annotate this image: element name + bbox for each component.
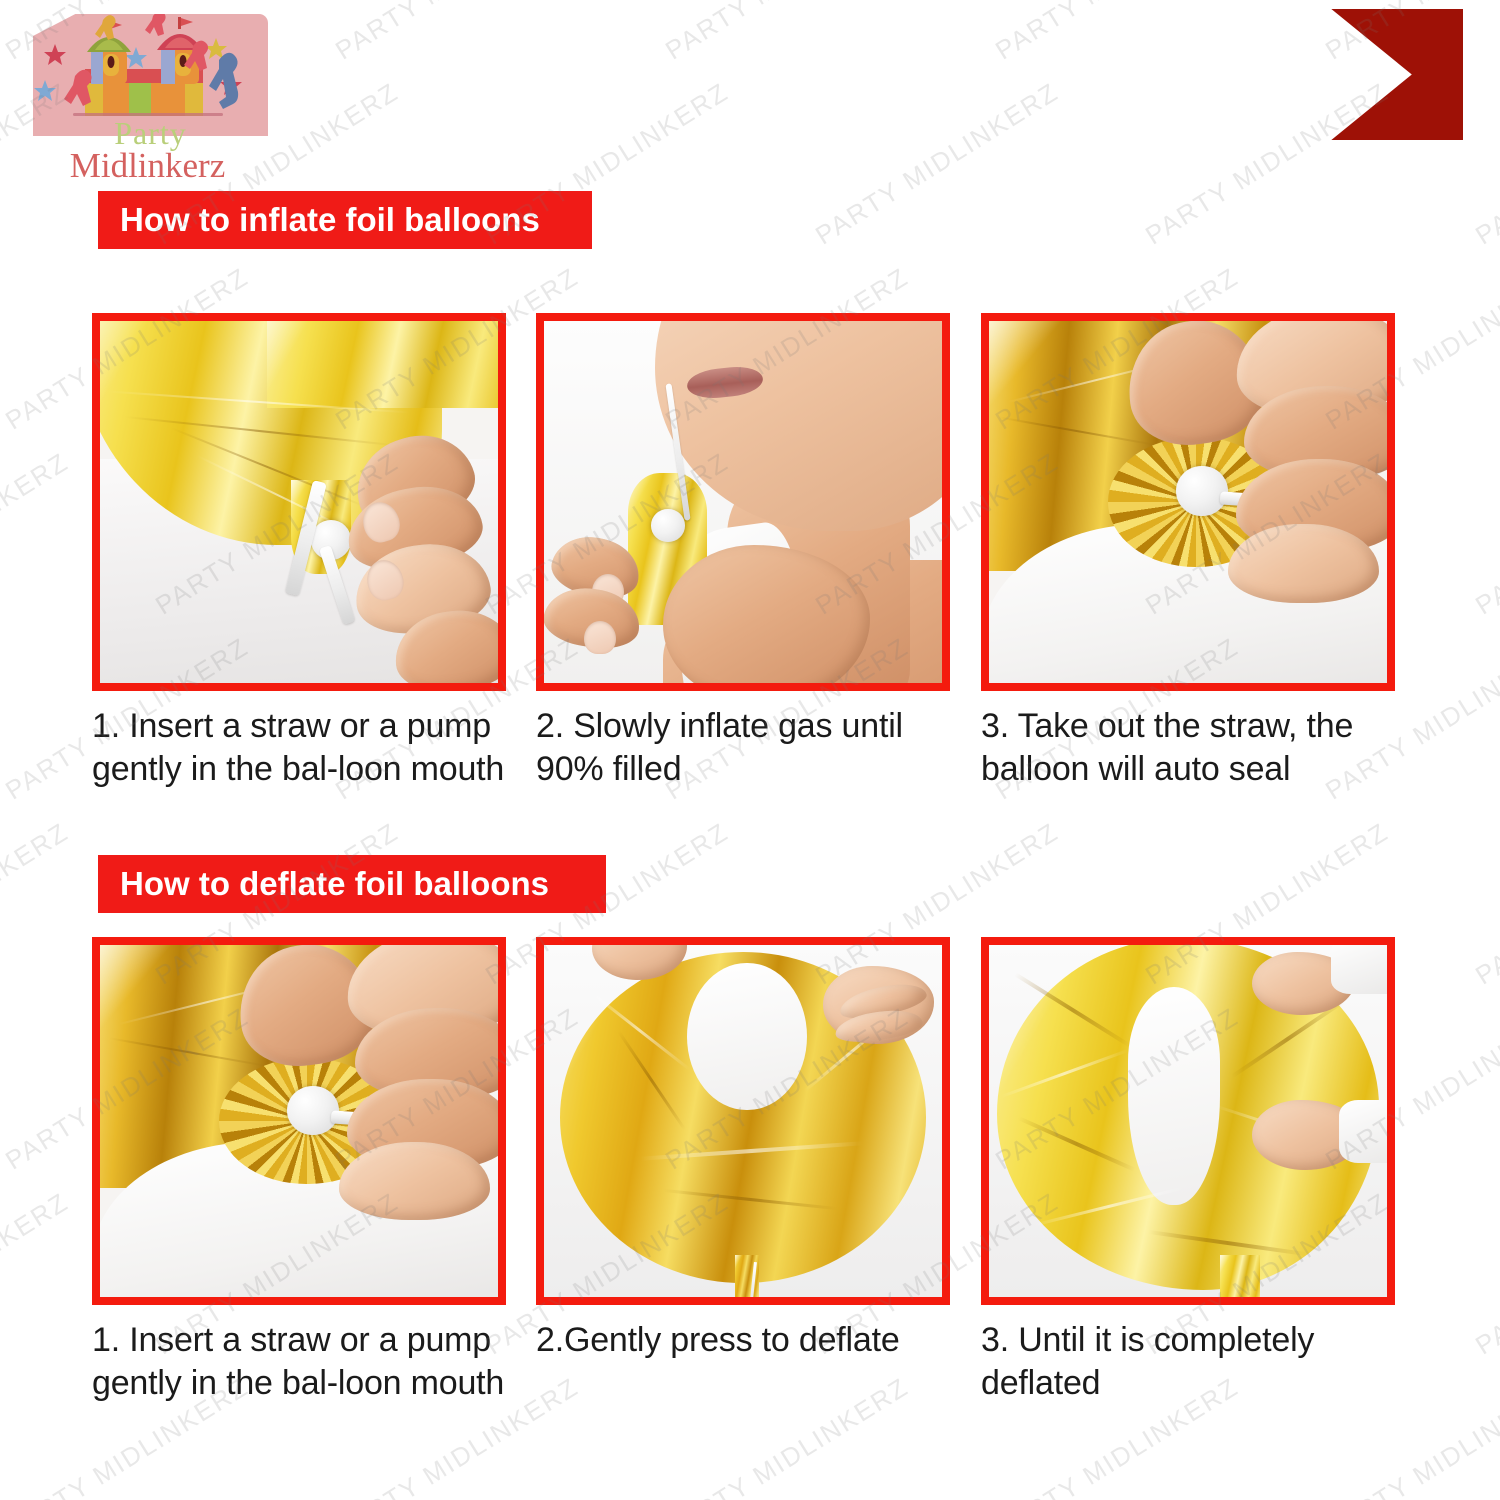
step-card-deflate-1: 1. Insert a straw or a pump gently in th…	[92, 937, 512, 1405]
remove-straw-auto-seal-photo	[989, 321, 1387, 683]
step-caption: 1. Insert a straw or a pump gently in th…	[92, 705, 512, 791]
photo-frame	[536, 937, 950, 1305]
step-caption: 3. Until it is completely deflated	[981, 1319, 1401, 1405]
step-caption: 2.Gently press to deflate	[536, 1319, 956, 1362]
watermark-text: PARTY MIDLINKERZ	[1470, 76, 1500, 251]
insert-straw-into-balloon-valve-photo	[100, 321, 498, 683]
foil-balloon-upper	[267, 321, 498, 408]
section-label-deflate: How to deflate foil balloons	[98, 855, 606, 913]
fully-deflated-gold-zero-balloon-photo	[989, 945, 1387, 1297]
press-gold-zero-balloon-photo	[544, 945, 942, 1297]
step-caption: 2. Slowly inflate gas until 90% filled	[536, 705, 956, 791]
brand-word-party: Party	[33, 118, 268, 149]
balloon-valve	[1176, 466, 1228, 517]
balloon-inner-hole	[1128, 987, 1220, 1205]
watermark-text: PARTY MIDLINKERZ	[0, 816, 74, 991]
watermark-text: PARTY MIDLINKERZ	[1470, 816, 1500, 991]
balloon-inner-hole	[687, 963, 806, 1111]
watermark-text: PARTY MIDLINKERZ	[660, 0, 914, 66]
step-card-inflate-1: 1. Insert a straw or a pump gently in th…	[92, 313, 512, 791]
photo-frame	[92, 937, 506, 1305]
photo-frame	[536, 313, 950, 691]
insert-straw-to-deflate-photo	[100, 945, 498, 1297]
step-caption: 3. Take out the straw, the balloon will …	[981, 705, 1401, 791]
watermark-text: PARTY MIDLINKERZ	[1470, 1186, 1500, 1361]
photo-frame	[981, 313, 1395, 691]
step-card-inflate-3: 3. Take out the straw, the balloon will …	[981, 313, 1401, 791]
watermark-text: PARTY MIDLINKERZ	[660, 1371, 914, 1500]
person-blowing-into-straw-photo	[544, 321, 942, 683]
balloon-valve	[651, 509, 685, 542]
brand-logo: Party Midlinkerz	[33, 14, 268, 190]
step-card-inflate-2: 2. Slowly inflate gas until 90% filled	[536, 313, 956, 791]
fingernail	[584, 621, 616, 654]
step-caption: 1. Insert a straw or a pump gently in th…	[92, 1319, 512, 1405]
photo-frame	[981, 937, 1395, 1305]
white-sleeve-upper	[1331, 945, 1387, 994]
watermark-text: PARTY MIDLINKERZ	[0, 1186, 74, 1361]
watermark-text: PARTY MIDLINKERZ	[0, 446, 74, 621]
balloon-neck	[1220, 1255, 1260, 1297]
balloon-valve	[287, 1086, 339, 1135]
watermark-text: PARTY MIDLINKERZ	[810, 76, 1064, 251]
section-label-inflate: How to inflate foil balloons	[98, 191, 592, 249]
brand-wordmark: Party Midlinkerz	[33, 118, 268, 182]
brand-word-midlinkerz: Midlinkerz	[27, 149, 268, 183]
watermark-text: PARTY MIDLINKERZ	[1470, 446, 1500, 621]
step-card-deflate-3: 3. Until it is completely deflated	[981, 937, 1401, 1405]
step-card-deflate-2: 2.Gently press to deflate	[536, 937, 956, 1362]
photo-frame	[92, 313, 506, 691]
white-sleeve-lower	[1339, 1100, 1387, 1163]
watermark-text: PARTY MIDLINKERZ	[990, 0, 1244, 66]
watermark-text: PARTY MIDLINKERZ	[330, 0, 584, 66]
watermark-text: PARTY MIDLINKERZ	[1140, 76, 1394, 251]
